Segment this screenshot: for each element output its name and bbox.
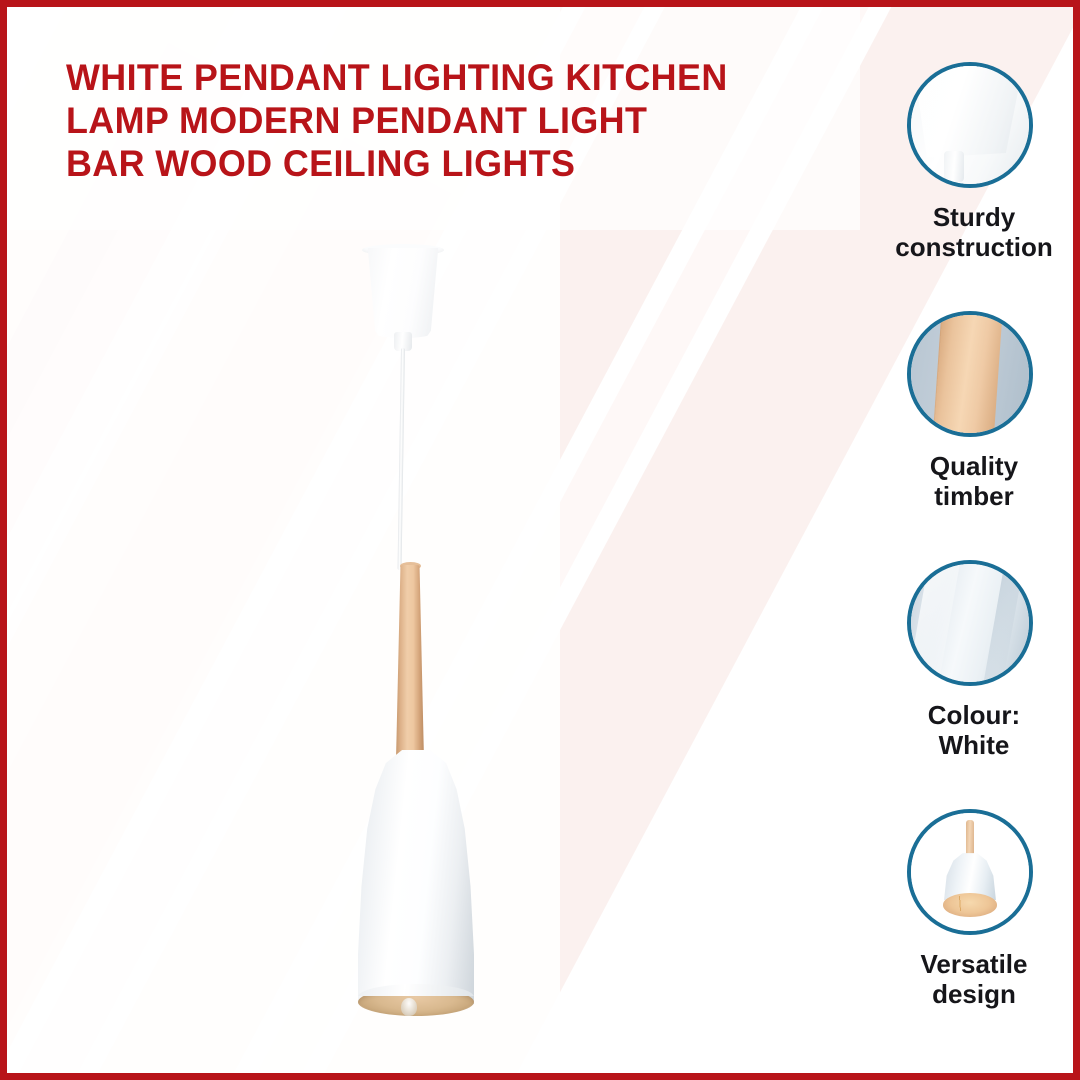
- product-listing-image: WHITE PENDANT LIGHTING KITCHEN LAMP MODE…: [0, 0, 1080, 1080]
- timber-grain-overlay: [396, 565, 424, 760]
- light-bulb: [401, 998, 417, 1016]
- suspension-cord: [398, 348, 405, 570]
- feature-quality-timber: Quality timber: [878, 311, 1070, 560]
- feature-callout-list: Sturdy construction Quality timber Colou…: [878, 62, 1070, 1058]
- white-finish-closeup-icon: [907, 560, 1033, 686]
- cone-shade: [358, 750, 474, 1012]
- feature-colour-white: Colour: White: [878, 560, 1070, 809]
- feature-sturdy-construction: Sturdy construction: [878, 62, 1070, 311]
- feature-label-line-1: Versatile: [878, 949, 1070, 979]
- product-title: WHITE PENDANT LIGHTING KITCHEN LAMP MODE…: [66, 56, 832, 185]
- title-line-1: WHITE PENDANT LIGHTING KITCHEN: [66, 56, 832, 99]
- feature-label-quality-timber: Quality timber: [878, 451, 1070, 511]
- title-line-3: BAR WOOD CEILING LIGHTS: [66, 142, 832, 185]
- feature-label-line-2: White: [878, 730, 1070, 760]
- feature-label-line-1: Quality: [878, 451, 1070, 481]
- feature-label-line-1: Colour:: [878, 700, 1070, 730]
- lamp-lit-icon: [907, 809, 1033, 935]
- feature-label-line-1: Sturdy: [878, 202, 1070, 232]
- title-line-2: LAMP MODERN PENDANT LIGHT: [66, 99, 832, 142]
- feature-label-line-2: timber: [878, 481, 1070, 511]
- canopy-closeup-icon: [907, 62, 1033, 188]
- feature-versatile-design: Versatile design: [878, 809, 1070, 1058]
- feature-label-versatile-design: Versatile design: [878, 949, 1070, 1009]
- feature-label-sturdy-construction: Sturdy construction: [878, 202, 1070, 262]
- feature-label-line-2: design: [878, 979, 1070, 1009]
- product-image: [300, 220, 560, 1030]
- feature-label-line-2: construction: [878, 232, 1070, 262]
- ceiling-canopy: [362, 248, 444, 338]
- timber-closeup-icon: [907, 311, 1033, 437]
- feature-label-colour-white: Colour: White: [878, 700, 1070, 760]
